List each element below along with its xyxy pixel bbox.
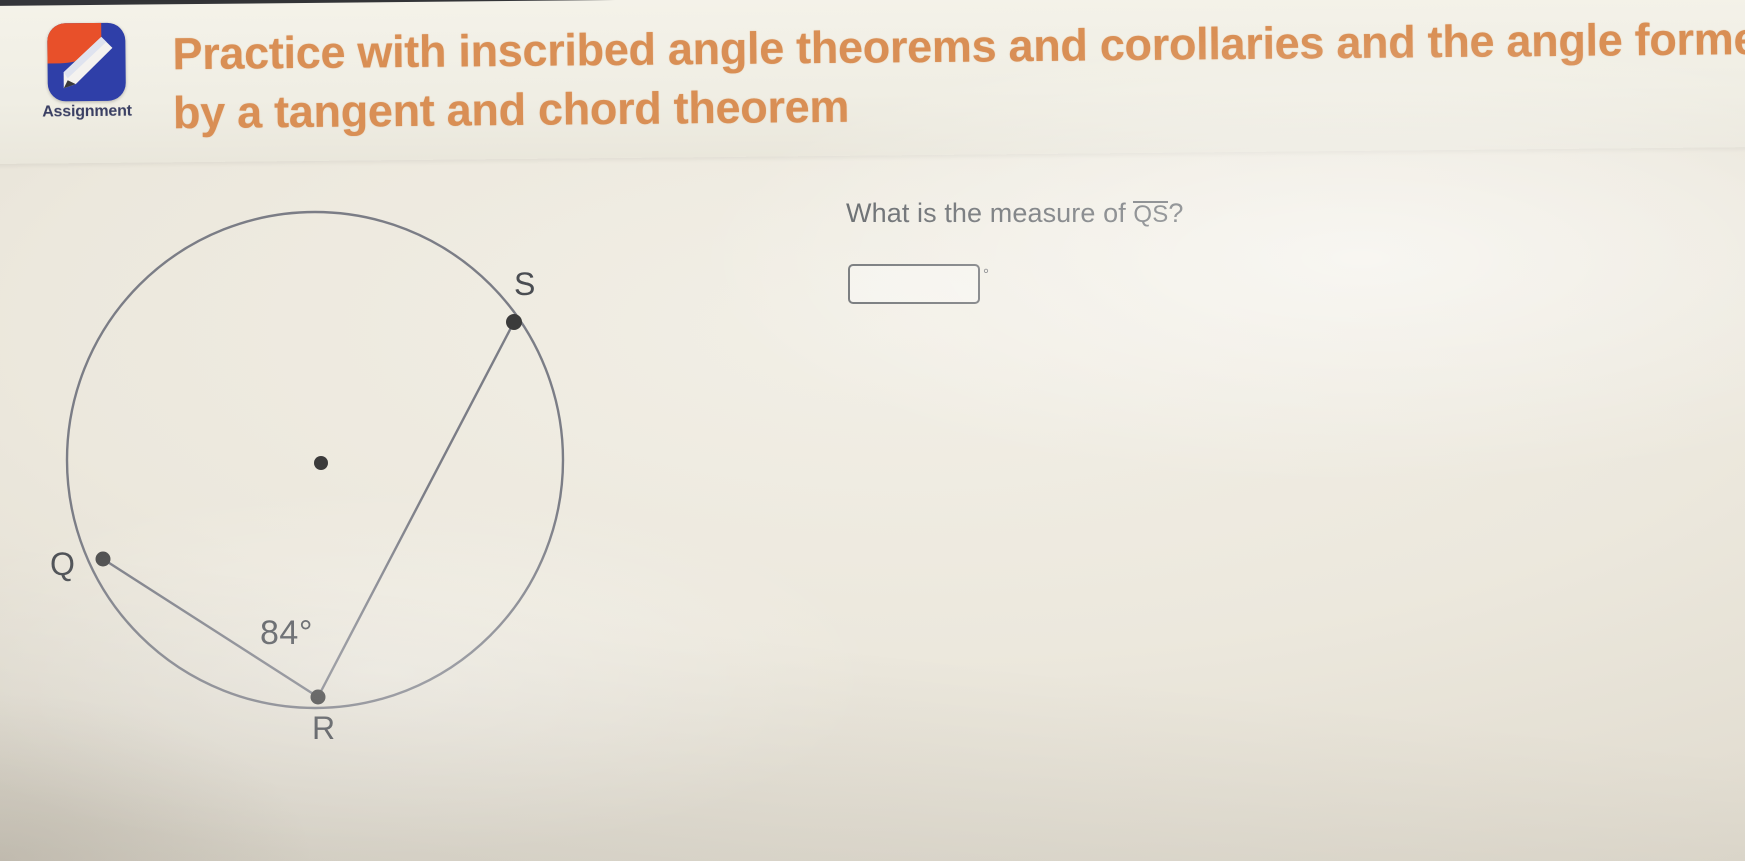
point-label-s: S	[514, 266, 535, 303]
point-label-q: Q	[50, 546, 75, 583]
point-q-dot	[96, 552, 111, 567]
assignment-header-band: Assignment Practice with inscribed angle…	[0, 0, 1745, 164]
center-point-dot	[314, 456, 328, 470]
question-prefix: What is the measure of	[846, 198, 1133, 228]
question-suffix: ?	[1168, 198, 1183, 228]
page-background: Assignment Practice with inscribed angle…	[0, 0, 1745, 861]
segment-qs-label: QS	[1133, 201, 1168, 227]
point-r-dot	[311, 690, 326, 705]
assignment-icon-label: Assignment	[27, 102, 147, 121]
question-prompt: What is the measure of QS?	[846, 198, 1406, 229]
pencil-glyph	[55, 32, 118, 93]
page-title: Practice with inscribed angle theorems a…	[172, 9, 1745, 144]
point-label-r: R	[312, 710, 335, 747]
answer-input[interactable]	[848, 264, 980, 304]
assignment-pencil-icon	[47, 23, 126, 102]
question-block: What is the measure of QS? °	[846, 198, 1406, 229]
degree-symbol: °	[983, 266, 989, 283]
assignment-badge: Assignment	[26, 23, 147, 122]
point-s-dot	[506, 314, 522, 330]
answer-row: °	[848, 264, 989, 304]
geometry-diagram: S Q R 84°	[10, 170, 630, 860]
angle-measure-label: 84°	[260, 614, 313, 653]
